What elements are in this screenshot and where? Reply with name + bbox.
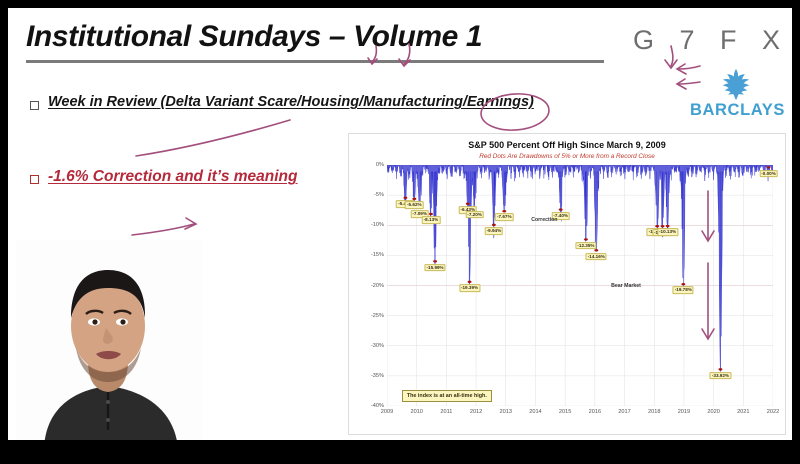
presenter-button [106, 400, 110, 404]
drawdown-dot [492, 224, 496, 226]
bullet-week-in-review: Week in Review (Delta Variant Scare/Hous… [30, 94, 534, 110]
drawdown-dot [466, 203, 470, 205]
drawdown-label: -7.67% [495, 214, 514, 222]
ink-small-arrow2-head [677, 79, 686, 89]
drawdown-label: -7.20% [465, 211, 484, 219]
drawdown-dot [468, 281, 472, 283]
bullet-marker-icon [30, 175, 39, 184]
x-axis-tick: 2014 [529, 409, 541, 415]
chart-plot-area: 0%-5%-10%-15%-20%-25%-30%-35%-40%2009201… [387, 165, 773, 406]
drawdown-label: -12.35% [575, 242, 596, 250]
drawdown-dot [655, 225, 659, 227]
g7fx-logo: G 7 F X [633, 25, 789, 56]
x-axis-tick: 2022 [767, 409, 779, 415]
x-axis-tick: 2012 [470, 409, 482, 415]
drawdown-label: -33.92% [710, 372, 731, 380]
bullet-correction: -1.6% Correction and it’s meaning [30, 168, 298, 186]
drawdown-label: -9.94% [485, 227, 504, 235]
x-axis-tick: 2013 [500, 409, 512, 415]
ink-arrow-left-head [185, 218, 196, 229]
drawdown-label: -19.78% [673, 287, 694, 295]
x-axis-tick: 2021 [737, 409, 749, 415]
chart-annotation: Bear Market [611, 283, 641, 289]
drawdown-dot [719, 368, 723, 370]
chart-annotation: Correction [531, 217, 557, 223]
presentation-slide: Institutional Sundays – Volume 1 G 7 F X… [8, 8, 792, 440]
chart-title: S&P 500 Percent Off High Since March 9, … [349, 140, 785, 150]
x-axis-tick: 2019 [678, 409, 690, 415]
x-axis-tick: 2015 [559, 409, 571, 415]
y-axis-tick: -5% [374, 192, 384, 198]
drawdown-dot [403, 197, 407, 199]
y-axis-tick: -35% [371, 373, 384, 379]
drawdown-dot [584, 238, 588, 240]
x-axis-tick: 2016 [589, 409, 601, 415]
y-axis-tick: -30% [371, 343, 384, 349]
x-axis-tick: 2009 [381, 409, 393, 415]
drawdown-dot [681, 283, 685, 285]
drawdown-dot [559, 208, 563, 210]
presenter-torso [44, 386, 178, 440]
x-axis-tick: 2020 [707, 409, 719, 415]
y-axis-tick: -20% [371, 283, 384, 289]
drawdown-label: -8.13% [422, 216, 441, 224]
presenter-pupil-left [92, 319, 97, 324]
barclays-wordmark: BARCLAYS [690, 101, 782, 120]
ink-small-arrow1-head [677, 64, 686, 74]
drawdown-dot [433, 260, 437, 262]
presenter-figure [16, 240, 202, 440]
barclays-logo: BARCLAYS [690, 68, 782, 120]
video-frame: Institutional Sundays – Volume 1 G 7 F X… [0, 0, 800, 464]
ink-arrow-left-shaft [132, 224, 194, 235]
drawdown-dot [666, 225, 670, 227]
title-divider [26, 60, 604, 63]
drawdown-label: -10.13% [657, 228, 678, 236]
drawdown-dot [502, 210, 506, 212]
sp500-drawdown-chart: S&P 500 Percent Off High Since March 9, … [348, 133, 786, 435]
drawdown-label: -5.62% [405, 201, 424, 209]
barclays-eagle-icon [716, 68, 756, 100]
drawdown-label: -14.16% [586, 253, 607, 261]
drawdown-label: -15.99% [425, 264, 446, 272]
chart-subtitle: Red Dots Are Drawdowns of 5% or More fro… [349, 153, 785, 160]
y-axis-tick: -15% [371, 252, 384, 258]
page-title: Institutional Sundays – Volume 1 [26, 20, 482, 54]
drawdown-dot [661, 225, 665, 227]
x-axis-tick: 2018 [648, 409, 660, 415]
ink-hook3-head [665, 60, 677, 68]
y-axis-tick: -10% [371, 222, 384, 228]
drawdown-dot [767, 166, 771, 168]
all-time-high-note: The index is at an all-time high. [402, 390, 492, 402]
drawdown-label: -0.00% [759, 170, 778, 178]
drawdown-dot [429, 213, 433, 215]
y-axis-tick: 0% [376, 162, 384, 168]
y-axis-tick: -25% [371, 313, 384, 319]
x-axis-tick: 2011 [440, 409, 452, 415]
ink-underline-sweep [136, 120, 290, 156]
chart-series [387, 165, 773, 406]
bullet-text: -1.6% Correction and it’s meaning [48, 168, 298, 186]
presenter-button [106, 418, 110, 422]
presenter-webcam [16, 240, 202, 440]
x-axis-tick: 2017 [618, 409, 630, 415]
x-axis-tick: 2010 [410, 409, 422, 415]
bullet-marker-icon [30, 101, 39, 110]
presenter-pupil-right [120, 319, 125, 324]
bullet-text: Week in Review (Delta Variant Scare/Hous… [48, 94, 534, 110]
drawdown-label: -19.39% [459, 284, 480, 292]
